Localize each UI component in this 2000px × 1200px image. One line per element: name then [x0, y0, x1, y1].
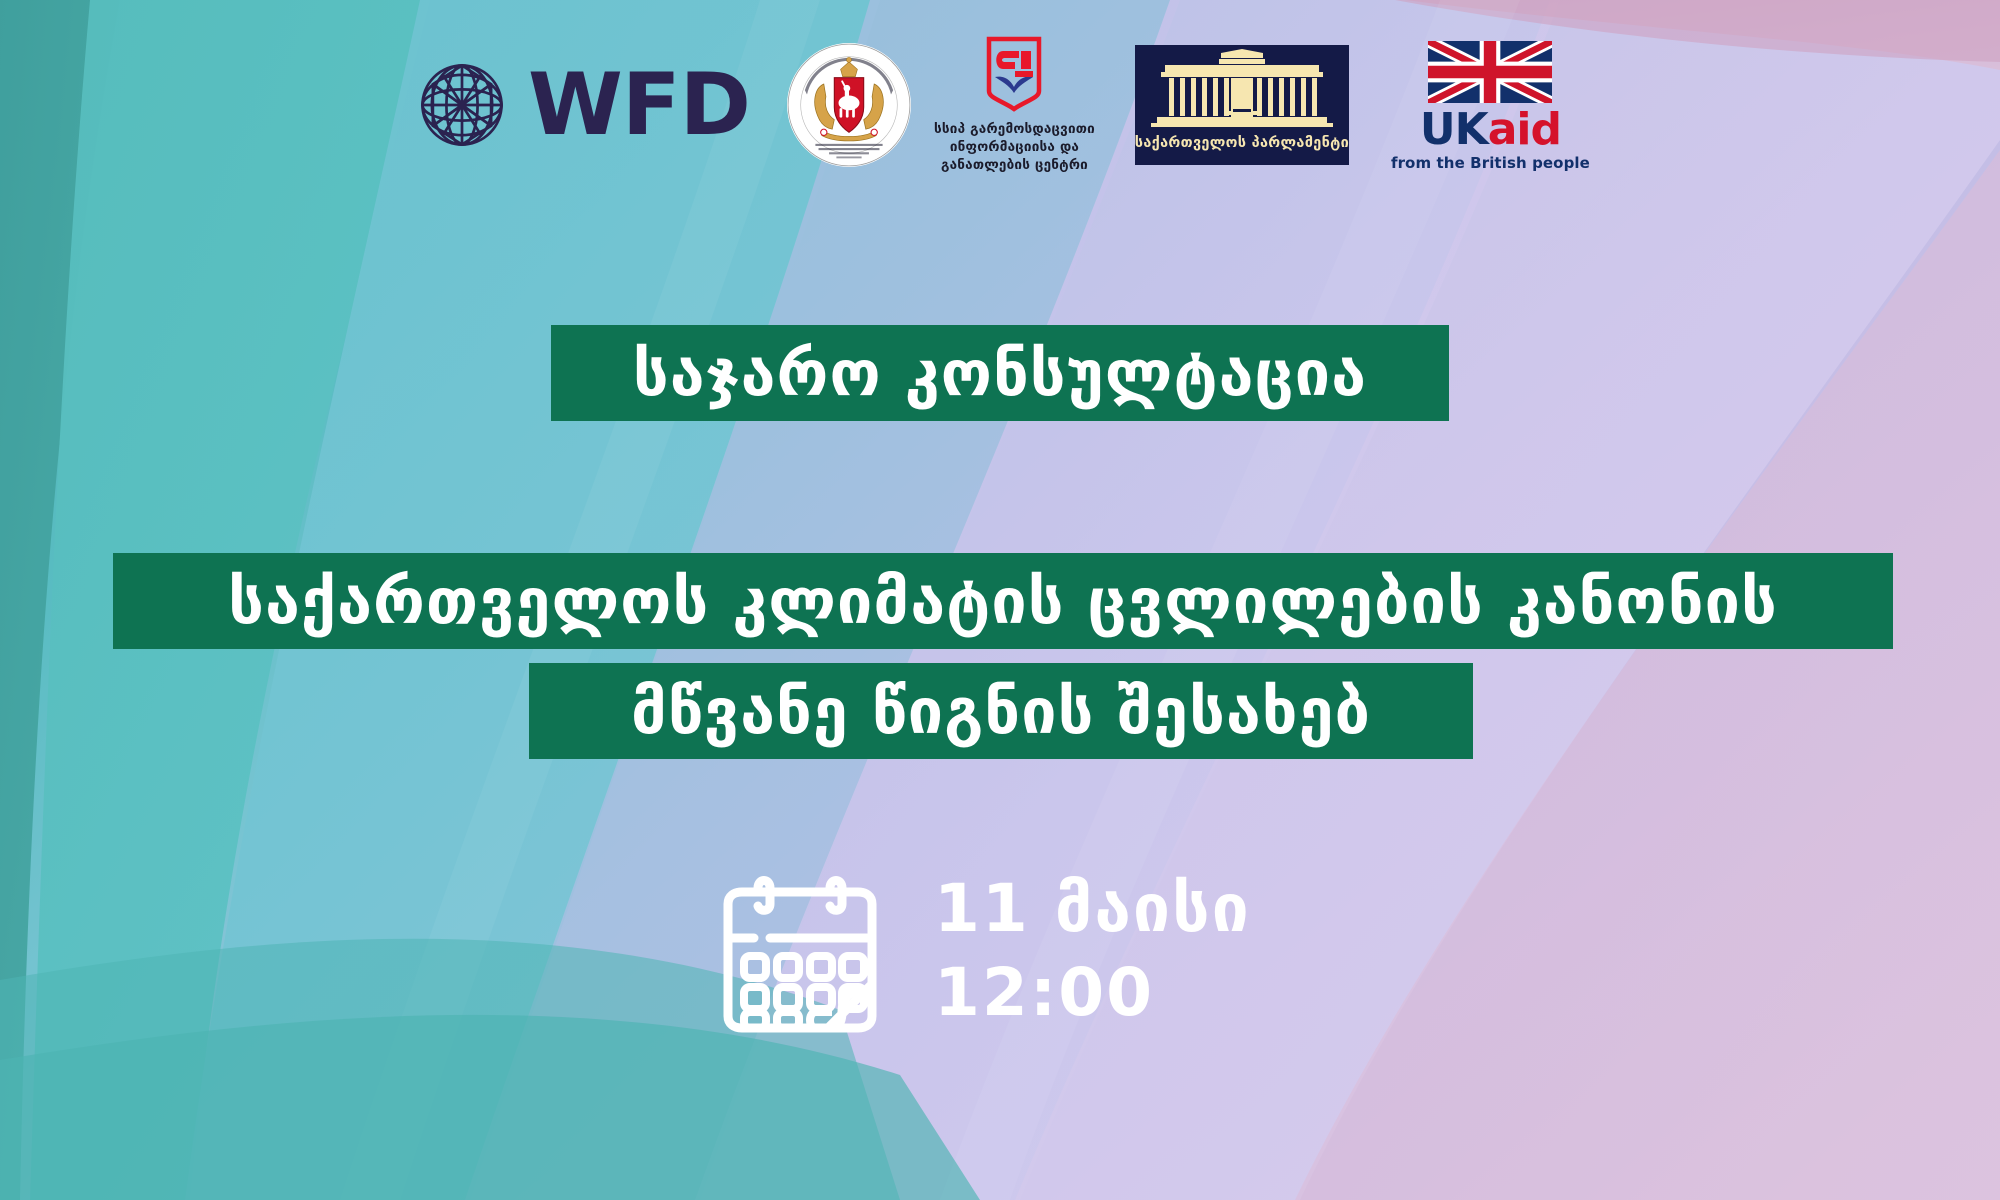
eiec-line-1: სსიპ გარემოსდაცვითი — [934, 121, 1095, 139]
headline-banner: საჯარო კონსულტაცია — [551, 325, 1449, 421]
ukaid-wordmark: UKaid — [1420, 108, 1561, 152]
eiec-logo: სსიპ გარემოსდაცვითი ინფორმაციისა და განა… — [934, 35, 1095, 175]
event-time: 12:00 — [934, 951, 1251, 1035]
eiec-text: სსიპ გარემოსდაცვითი ინფორმაციისა და განა… — [934, 121, 1095, 175]
parliament-logo: საქართველოს პარლამენტი — [1135, 45, 1349, 165]
event-date-text: 11 მაისი 12:00 — [934, 867, 1251, 1036]
ukaid-logo: UKaid from the British people — [1391, 39, 1590, 172]
eiec-line-3: განათლების ცენტრი — [934, 157, 1095, 175]
subtitle-banner-line-2: მწვანე წიგნის შესახებ — [529, 663, 1473, 759]
subtitle-banner-line-1: საქართველოს კლიმატის ცვლილების კანონის — [113, 553, 1893, 649]
event-date: 11 მაისი — [934, 867, 1251, 951]
ukaid-uk-text: UK — [1420, 104, 1488, 155]
union-jack-flag-icon — [1428, 39, 1552, 105]
ukaid-tagline: from the British people — [1391, 154, 1590, 172]
logo-bar: WFD — [0, 30, 2000, 180]
ministry-logo — [786, 42, 912, 168]
poster-canvas: WFD — [0, 0, 2000, 1200]
event-date-block: 11 მაისი 12:00 — [712, 860, 1251, 1042]
parliament-building-icon — [1147, 49, 1337, 133]
parliament-label: საქართველოს პარლამენტი — [1135, 135, 1349, 151]
globe-wireframe-icon — [410, 53, 514, 157]
wfd-logo: WFD — [410, 53, 750, 157]
wfd-wordmark: WFD — [528, 62, 750, 148]
eiec-line-2: ინფორმაციისა და — [934, 139, 1095, 157]
calendar-icon — [712, 860, 888, 1042]
environmental-information-center-icon — [981, 35, 1047, 115]
georgia-ministry-emblem-icon — [786, 42, 912, 168]
ukaid-aid-text: aid — [1488, 104, 1561, 155]
